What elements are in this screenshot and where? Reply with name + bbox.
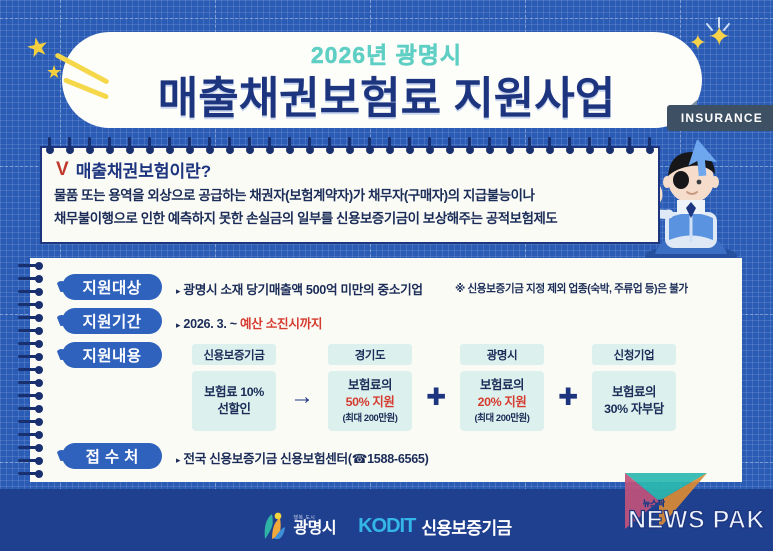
support-box-max: (최대 200만원) [343, 412, 398, 425]
application-office-text: ▸ 전국 신용보증기금 신용보험센터(☎1588-6565) [176, 448, 429, 467]
support-box-kodit: 신용보증기금 보험료 10% 선할인 [192, 344, 276, 431]
gwangmyeong-logo-icon [261, 511, 287, 541]
support-target-text: ▸ 광명시 소재 당기매출액 500억 미만의 중소기업 [176, 279, 423, 298]
support-box-line2: 50% 지원 [346, 394, 395, 411]
support-target-note: ※ 신용보증기금 지정 제외 업종(숙박, 주류업 등)은 불가 [455, 281, 688, 296]
support-box-line2: 30% 자부담 [604, 401, 664, 418]
support-box-body: 보험료의 20% 지원 (최대 200만원) [460, 371, 544, 431]
cursor-arrow-icon [687, 140, 721, 180]
description-binder-rings [40, 137, 660, 153]
card-binder-rings [18, 258, 36, 482]
gwangmyeong-logo: 행복 도시 광명시 [261, 511, 336, 541]
row-label-support-target: 지원대상 [62, 274, 162, 300]
gwangmyeong-text: 행복 도시 광명시 [293, 516, 336, 537]
support-box-header: 광명시 [460, 344, 544, 365]
support-box-gwangmyeong: 광명시 보험료의 20% 지원 (최대 200만원) [460, 344, 544, 431]
support-box-body: 보험료 10% 선할인 [192, 371, 276, 431]
kodit-name: 신용보증기금 [421, 514, 511, 539]
insurance-tag: INSURANCE [667, 105, 773, 131]
description-heading-row: V 매출채권보험이란? [56, 157, 658, 182]
support-period-until: 예산 소진시까지 [240, 317, 322, 331]
bullet-icon: ▸ [176, 286, 180, 296]
support-target-value: 광명시 소재 당기매출액 500억 미만의 중소기업 [183, 283, 422, 297]
kodit-logo: KODIT 신용보증기금 [358, 514, 511, 539]
support-box-line2: 선할인 [218, 401, 251, 418]
bullet-icon: ▸ [176, 320, 180, 330]
description-line-2: 채무불이행으로 인한 예측하지 못한 손실금의 일부를 신용보증기금이 보상해주… [54, 208, 658, 230]
support-box-header: 신용보증기금 [192, 344, 276, 365]
page-title: 매출채권보험료 지원사업 [0, 62, 773, 126]
support-box-header: 신청기업 [592, 344, 676, 365]
row-label-support-period: 지원기간 [62, 308, 162, 334]
support-box-max: (최대 200만원) [475, 412, 530, 425]
operator-arrow-icon: → [290, 383, 314, 411]
newspak-watermark-sub: 뉴스팍 [643, 498, 665, 509]
gwangmyeong-name: 광명시 [293, 521, 336, 537]
newspak-watermark-text: NEWS PAK [628, 506, 765, 535]
support-box-line1: 보험료의 [348, 377, 392, 394]
check-icon: V [56, 159, 69, 181]
support-box-body: 보험료의 50% 지원 (최대 200만원) [328, 371, 412, 431]
support-box-line1: 보험료 10% [204, 384, 264, 401]
support-box-line1: 보험료의 [480, 377, 524, 394]
support-box-line1: 보험료의 [612, 384, 656, 401]
operator-plus-icon: ✚ [426, 383, 446, 412]
support-period-text: ▸ 2026. 3. ~ 예산 소진시까지 [176, 313, 322, 332]
support-box-header: 경기도 [328, 344, 412, 365]
support-box-applicant: 신청기업 보험료의 30% 자부담 [592, 344, 676, 431]
support-box-line2: 20% 지원 [478, 394, 527, 411]
row-label-application-office: 접수처 [62, 443, 162, 469]
support-box-gyeonggi: 경기도 보험료의 50% 지원 (최대 200만원) [328, 344, 412, 431]
support-box-body: 보험료의 30% 자부담 [592, 371, 676, 431]
application-office-value: 전국 신용보증기금 신용보험센터(☎1588-6565) [183, 452, 428, 466]
description-panel: V 매출채권보험이란? 물품 또는 용역을 외상으로 공급하는 채권자(보험계약… [40, 146, 660, 244]
bullet-icon: ▸ [176, 455, 180, 465]
operator-plus-icon: ✚ [558, 383, 578, 412]
row-label-support-content: 지원내용 [62, 342, 162, 368]
kodit-mark: KODIT [358, 515, 415, 538]
description-heading: 매출채권보험이란? [76, 157, 212, 182]
description-line-1: 물품 또는 용역을 외상으로 공급하는 채권자(보험계약자)가 채무자(구매자)… [54, 185, 658, 207]
support-period-start: 2026. 3. ~ [183, 317, 240, 331]
